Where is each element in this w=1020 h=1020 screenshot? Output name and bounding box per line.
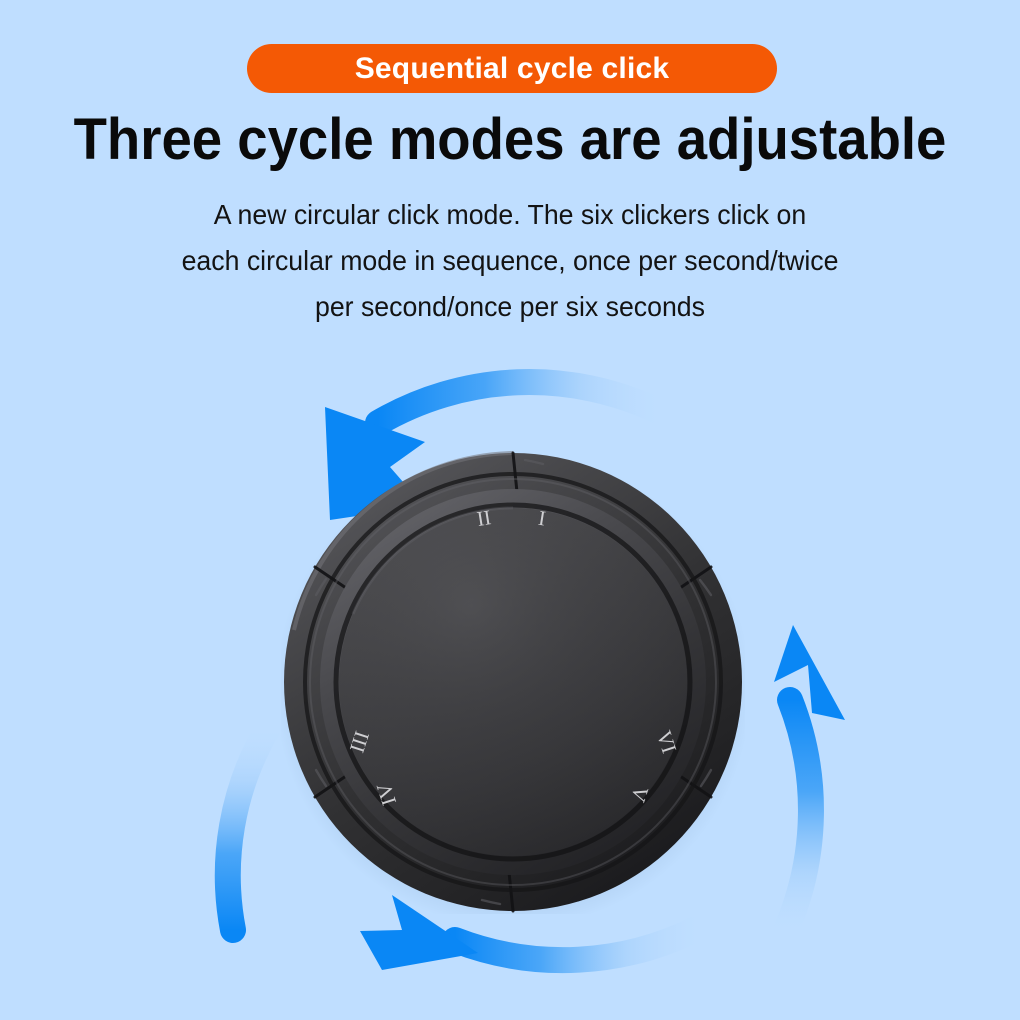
arc-bottom [455, 927, 700, 960]
description-line: A new circular click mode. The six click… [103, 192, 918, 238]
description-paragraph: A new circular click mode. The six click… [103, 192, 918, 330]
page-title: Three cycle modes are adjustable [31, 108, 990, 172]
arc-top [378, 382, 660, 423]
badge-label: Sequential cycle click [355, 52, 670, 86]
description-line: per second/once per six seconds [103, 284, 918, 330]
description-line: each circular mode in sequence, once per… [103, 238, 918, 284]
arc-right [786, 700, 811, 930]
promo-poster: Sequential cycle click Three cycle modes… [0, 0, 1020, 1020]
arc-left [228, 728, 268, 930]
badge-pill: Sequential cycle click [247, 44, 777, 93]
device-illustration: I II III IV V VI [281, 450, 745, 914]
